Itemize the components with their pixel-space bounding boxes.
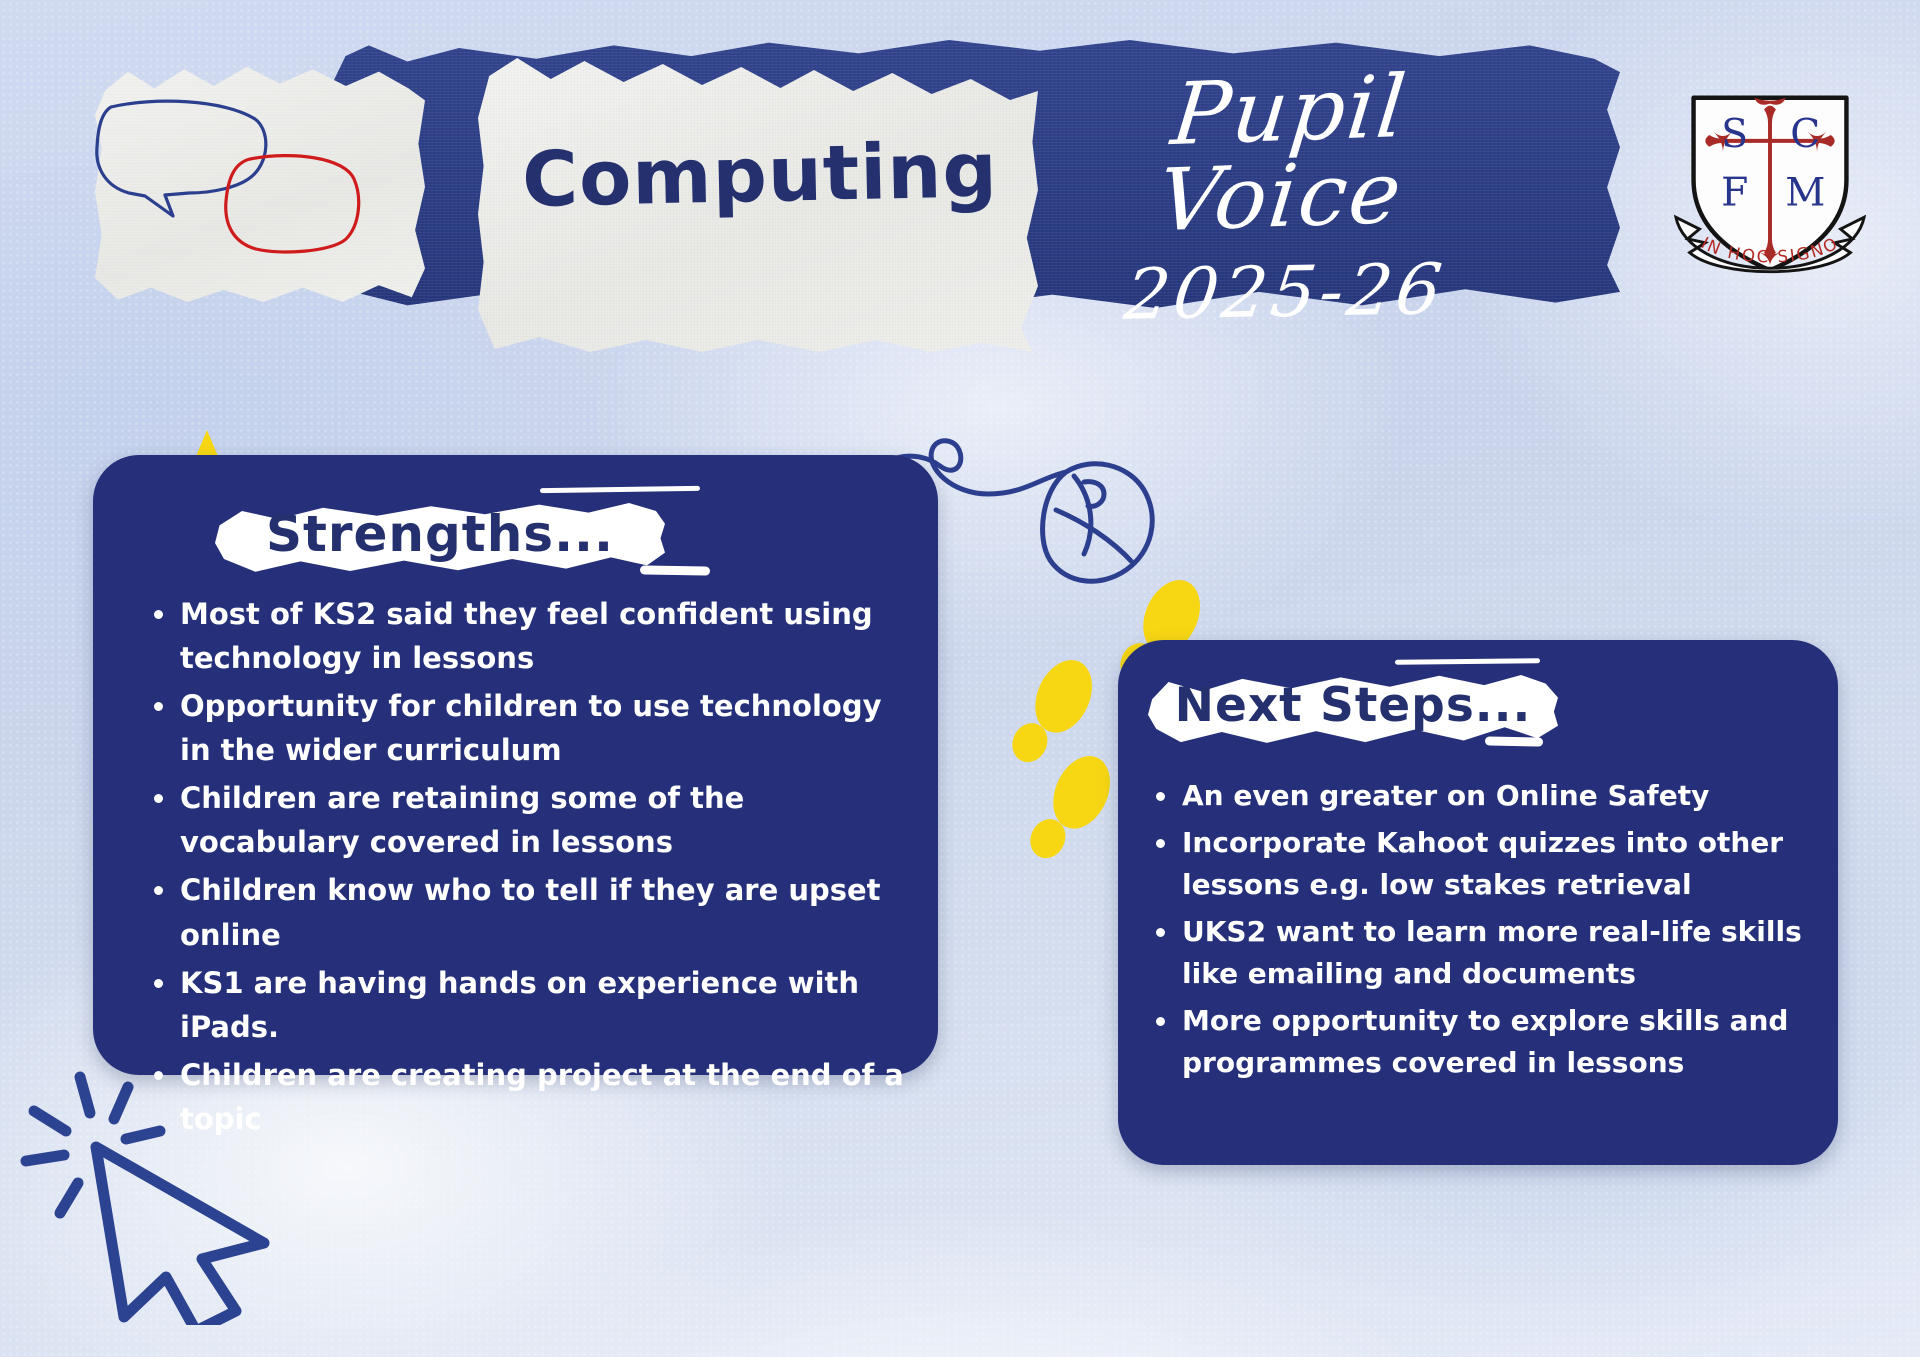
list-item: An even greater on Online Safety xyxy=(1150,775,1810,818)
crest-letter-f: F xyxy=(1721,171,1748,216)
pupil-voice-title: Pupil Voice 2025-26 xyxy=(1075,68,1495,333)
crest-letter-s: S xyxy=(1721,112,1748,157)
next-steps-list: An even greater on Online Safety Incorpo… xyxy=(1150,775,1810,1089)
next-steps-heading: Next Steps... xyxy=(1148,678,1558,733)
crest-letter-c: C xyxy=(1790,112,1820,157)
list-item: More opportunity to explore skills and p… xyxy=(1150,1000,1810,1085)
list-item: UKS2 want to learn more real-life skills… xyxy=(1150,911,1810,996)
poster-header: Computing Pupil Voice 2025-26 S C F M xyxy=(0,0,1920,390)
list-item: Children are retaining some of the vocab… xyxy=(148,776,908,864)
page-title: Computing xyxy=(499,125,1021,225)
crest-letter-m: M xyxy=(1785,171,1825,216)
academic-year-label: 2025-26 xyxy=(1070,248,1501,336)
strengths-brush-whisker-bottom xyxy=(640,565,710,575)
strengths-list: Most of KS2 said they feel confident usi… xyxy=(148,592,908,1145)
next-steps-brush-whisker-bottom xyxy=(1485,736,1543,746)
list-item: Most of KS2 said they feel confident usi… xyxy=(148,592,908,680)
strengths-heading: Strengths... xyxy=(215,505,665,563)
list-item: Children are creating project at the end… xyxy=(148,1053,908,1141)
speech-bubble-red-icon xyxy=(222,153,362,256)
list-item: Incorporate Kahoot quizzes into other le… xyxy=(1150,822,1810,907)
list-item: Children know who to tell if they are up… xyxy=(148,868,908,956)
school-crest-logo: S C F M IN HOC SIGNO xyxy=(1672,86,1868,282)
list-item: Opportunity for children to use technolo… xyxy=(148,684,908,772)
list-item: KS1 are having hands on experience with … xyxy=(148,961,908,1049)
poster-canvas: Computing Pupil Voice 2025-26 S C F M xyxy=(0,0,1920,1357)
pupil-voice-label: Pupil Voice xyxy=(1065,61,1505,248)
